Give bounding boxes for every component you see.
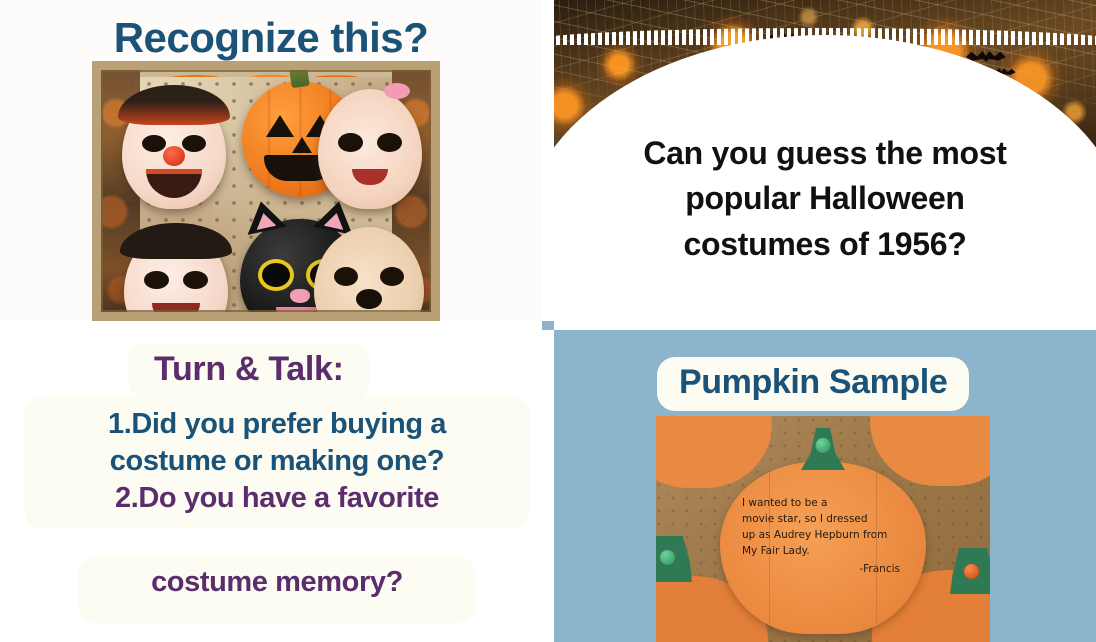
- column-divider: [542, 0, 554, 321]
- four-panel-slide-grid: Recognize this?: [0, 0, 1096, 642]
- page-title: Recognize this?: [0, 14, 542, 62]
- note-line-1: I wanted to be a: [742, 497, 827, 509]
- row-divider: [542, 330, 554, 642]
- panel-recognize-this: Recognize this?: [0, 0, 542, 321]
- pushpin-icon: [660, 550, 675, 565]
- photo-frame-edge: [92, 61, 440, 321]
- pumpkin-sample-photo: I wanted to be a movie star, so I dresse…: [656, 416, 990, 642]
- panel-question: Can you guess the most popular Halloween…: [554, 0, 1096, 321]
- question-text: Can you guess the most popular Halloween…: [598, 131, 1052, 267]
- question-line-2: popular Halloween: [598, 176, 1052, 221]
- halloween-masks-photo: [92, 61, 440, 321]
- pushpin-icon: [816, 438, 831, 453]
- question-line-1: Can you guess the most: [598, 131, 1052, 176]
- panel-pumpkin-sample: Pumpkin Sample I wanted to be a movie st…: [554, 330, 1096, 642]
- note-line-3: up as Audrey Hepburn from: [742, 529, 887, 541]
- panel-turn-and-talk: [542, 321, 554, 330]
- note-signature: -Francis: [742, 562, 914, 578]
- column-divider: [0, 321, 542, 330]
- cross-divider: [0, 330, 542, 642]
- question-line-3: costumes of 1956?: [598, 222, 1052, 267]
- note-line-2: movie star, so I dressed: [742, 513, 868, 525]
- handwritten-note: I wanted to be a movie star, so I dresse…: [742, 496, 914, 578]
- main-paper-pumpkin: I wanted to be a movie star, so I dresse…: [720, 462, 926, 634]
- pumpkin-sample-badge: Pumpkin Sample: [657, 357, 969, 411]
- pushpin-icon: [964, 564, 979, 579]
- row-divider: [554, 321, 1096, 330]
- note-line-4: My Fair Lady.: [742, 545, 810, 557]
